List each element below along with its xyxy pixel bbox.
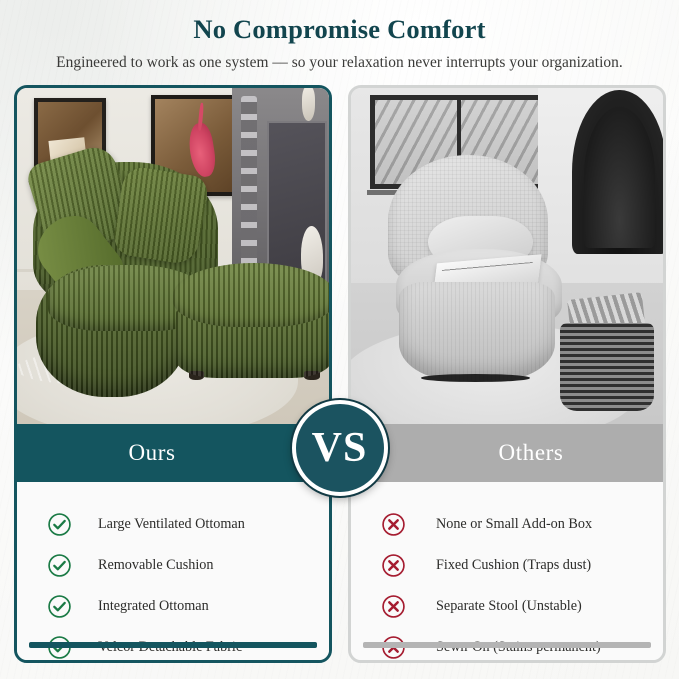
feature-label: Removable Cushion xyxy=(98,557,213,574)
ottoman-leg-left xyxy=(189,371,205,380)
feature-list-ours: Large Ventilated Ottoman Removable Cushi… xyxy=(17,482,329,660)
comparison-card-others: Others None or Small Add-on Box xyxy=(348,85,666,663)
product-photo-ours xyxy=(17,88,329,424)
page-title: No Compromise Comfort xyxy=(0,14,679,45)
chair-swivel-base xyxy=(421,374,530,382)
band-ours: Ours xyxy=(17,424,329,482)
feature-row: Large Ventilated Ottoman xyxy=(31,504,315,545)
ottoman-lid xyxy=(173,263,329,328)
band-label-ours: Ours xyxy=(128,440,175,466)
page-subtitle: Engineered to work as one system — so yo… xyxy=(0,54,679,72)
ottoman-leg-right xyxy=(304,371,320,380)
cross-circle-icon xyxy=(381,553,406,578)
vs-badge: VS xyxy=(292,400,388,496)
vase-decor xyxy=(302,88,316,121)
cross-circle-icon xyxy=(381,594,406,619)
feature-row: Removable Cushion xyxy=(31,545,315,586)
product-photo-others xyxy=(351,88,663,424)
cross-circle-icon xyxy=(381,512,406,537)
comparison-infographic: No Compromise Comfort Engineered to work… xyxy=(0,0,679,679)
vs-badge-label: VS xyxy=(312,424,368,472)
comparison-card-ours: Ours Large Ventilated Ottoman xyxy=(14,85,332,663)
feature-row: None or Small Add-on Box xyxy=(365,504,649,545)
band-others: Others xyxy=(351,424,663,482)
feature-row: Separate Stool (Unstable) xyxy=(365,586,649,627)
fireplace-arch xyxy=(572,90,663,254)
feature-label: Fixed Cushion (Traps dust) xyxy=(436,557,591,574)
feature-label: Large Ventilated Ottoman xyxy=(98,516,245,533)
feature-label: Separate Stool (Unstable) xyxy=(436,598,582,615)
feature-list-others: None or Small Add-on Box Fixed Cushion (… xyxy=(351,482,663,660)
card-accent-bar-ours xyxy=(29,642,317,648)
band-label-others: Others xyxy=(499,440,564,466)
room-scene-others xyxy=(351,88,663,424)
chair-pillow-right xyxy=(111,165,209,267)
chair-body xyxy=(399,282,555,381)
card-accent-bar-others xyxy=(363,642,651,648)
check-circle-icon xyxy=(47,553,72,578)
wicker-basket xyxy=(560,323,654,410)
check-circle-icon xyxy=(47,594,72,619)
gray-barrel-chair xyxy=(388,155,569,390)
check-circle-icon xyxy=(47,512,72,537)
feature-label: Integrated Ottoman xyxy=(98,598,209,615)
storage-ottoman xyxy=(173,263,329,397)
feature-label: None or Small Add-on Box xyxy=(436,516,592,533)
room-scene-ours xyxy=(17,88,329,424)
feature-row: Integrated Ottoman xyxy=(31,586,315,627)
feature-row: Fixed Cushion (Traps dust) xyxy=(365,545,649,586)
